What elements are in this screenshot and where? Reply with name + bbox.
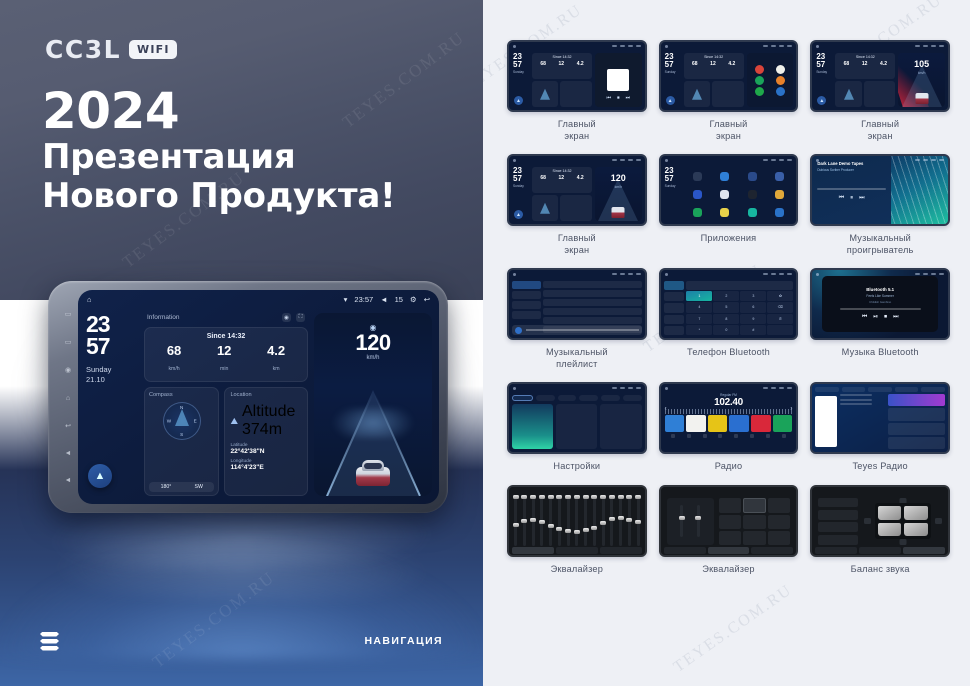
gallery-item[interactable]: 2357Sunday Since 14:3268124.2 ▲ <box>659 40 799 142</box>
prev-icon: ⏮ <box>862 314 867 321</box>
latitude-value: 22°42'38"N <box>230 448 302 455</box>
compass-n: N <box>180 405 183 410</box>
dial-call-icon[interactable]: ✆ <box>767 314 793 324</box>
dial-key[interactable]: ◉ <box>65 366 71 374</box>
navigation-label: НАВИГАЦИЯ <box>364 635 443 647</box>
thumbnail-bluetooth-phone[interactable]: 1 2 3 ✿ 4 5 6 ⌫ 7 8 <box>659 268 799 340</box>
dial-action-icon[interactable]: ✿ <box>767 291 793 301</box>
gear-icon[interactable]: ⚙ <box>410 295 417 304</box>
next-icon: ⏭ <box>859 195 864 202</box>
power-key[interactable]: ▭ <box>65 310 72 318</box>
status-right-group: ▾ 23:57 ◄ 15 ⚙ ↩ <box>344 295 430 304</box>
gallery-caption: Приложения <box>701 233 757 245</box>
compass-card[interactable]: Compass N S W E 180° <box>144 387 219 496</box>
clock-date: 21.10 <box>86 375 138 384</box>
status-time: 23:57 <box>354 295 373 304</box>
wifi-icon: ▾ <box>344 295 348 304</box>
gallery-item[interactable]: Баланс звука <box>810 485 950 576</box>
gallery-caption-line2: проигрыватель <box>847 245 914 257</box>
location-title: Location <box>230 392 302 398</box>
stat-value: 4.2 <box>267 344 285 357</box>
stop-icon: ⏹ <box>884 314 887 321</box>
thumbnail-settings[interactable] <box>507 382 647 454</box>
compass-bearing: 180° <box>161 484 172 490</box>
dial-key[interactable]: 6 <box>740 302 766 312</box>
home-icon[interactable]: ⌂ <box>87 295 92 304</box>
gallery-caption: Главный <box>558 233 596 245</box>
watermark: TEYES.COM.RU <box>671 581 796 676</box>
dial-key[interactable]: 4 <box>686 302 712 312</box>
gallery-caption: Эквалайзер <box>551 564 603 576</box>
information-title: Information <box>147 314 180 321</box>
compass-title: Compass <box>149 392 214 398</box>
driving-view[interactable]: ◉ 120 km/h <box>314 313 432 496</box>
stat-speed: 68 km/h <box>167 344 181 375</box>
thumbnail-playlist[interactable] <box>507 268 647 340</box>
gallery-caption: Главный <box>861 119 899 131</box>
home-key[interactable]: ⌂ <box>66 395 70 402</box>
head-unit-bezel: ▭ ▭ ◉ ⌂ ↩ ◄ ◄ ⌂ ▾ 23:57 ◄ 15 <box>48 281 448 513</box>
hero-title-line1: Презентация <box>42 138 395 177</box>
speed-value: 120 <box>314 332 432 354</box>
bt-artist: Childish Gambino <box>869 300 891 304</box>
gallery-caption: Музыкальный <box>546 347 608 359</box>
speed-readout: ◉ 120 km/h <box>314 323 432 361</box>
gallery-caption: Главный <box>558 119 596 131</box>
gallery-caption: Настройки <box>553 461 600 473</box>
longitude-value: 114°4'23"E <box>230 464 302 471</box>
screen-body: 23 57 Sunday 21.10 ▲ Information <box>78 308 439 504</box>
thumbnail-music-player[interactable]: Dark Lane Demo Tapes Dubious Scriber Pro… <box>810 154 950 226</box>
mode-key[interactable]: ▭ <box>65 338 72 346</box>
thumbnail-equalizer-pads[interactable] <box>659 485 799 557</box>
stat-value: 12 <box>217 344 231 357</box>
information-column: Information ◉ ⛶ Since 14:32 <box>144 313 308 496</box>
thumb-speed-value: 105 <box>898 59 945 69</box>
gallery-item[interactable]: 2357Sunday Since 14:3268124.2 105 km/h ▲ <box>810 40 950 142</box>
back-key[interactable]: ↩ <box>65 422 71 430</box>
speed-unit: km/h <box>314 355 432 361</box>
gallery-caption-line2: экран <box>861 131 899 143</box>
thumbnail-bluetooth-music[interactable]: Bluetooth 5.1 Feels Like Summer Childish… <box>810 268 950 340</box>
trip-info-card[interactable]: Since 14:32 68 km/h 12 min <box>144 327 308 382</box>
next-icon: ⏭ <box>893 314 898 321</box>
page-title: 2024 Презентация Нового Продукта! <box>42 84 395 217</box>
prev-icon: ⏮ <box>839 195 844 202</box>
compass-e: E <box>194 419 197 424</box>
stat-value: 68 <box>167 344 181 357</box>
layers-icon[interactable] <box>40 632 59 651</box>
gallery-caption: Главный <box>709 119 747 131</box>
gallery-grid: 2357Sunday Since 14:3268124.2 ⏮⏹⏭ ▲ Глав… <box>507 40 950 575</box>
dial-key[interactable]: 0 <box>713 325 739 335</box>
compass-w: W <box>167 419 171 424</box>
gallery-caption: Радио <box>715 461 743 473</box>
gallery-item[interactable]: Bluetooth 5.1 Feels Like Summer Childish… <box>810 268 950 370</box>
gallery-item[interactable]: Teyes Радио <box>810 382 950 473</box>
dial-blank <box>767 325 793 335</box>
thumbnail-home-media[interactable]: 2357Sunday Since 14:3268124.2 ⏮⏹⏭ ▲ <box>507 40 647 112</box>
gallery-item[interactable]: 2357Sunday Since 14:3268124.2 ⏮⏹⏭ ▲ Глав… <box>507 40 647 142</box>
location-card[interactable]: Location ⛰ Altitude 374m <box>224 387 308 496</box>
gallery-caption: Телефон Bluetooth <box>687 347 770 359</box>
clock-hours: 23 <box>86 313 138 335</box>
dial-key[interactable]: 9 <box>740 314 766 324</box>
dialpad: 1 2 3 ✿ 4 5 6 ⌫ 7 8 <box>686 291 793 335</box>
thumbnail-apps[interactable]: 2357Sunday <box>659 154 799 226</box>
thumbnail-radio[interactable]: Regular FM 102.40 ‹ › <box>659 382 799 454</box>
logo-text: CC3L <box>45 35 121 64</box>
balance-down-arrow[interactable] <box>899 539 906 545</box>
clock-minutes: 57 <box>86 335 138 357</box>
compass-s: S <box>180 432 183 437</box>
gallery-item[interactable]: Эквалайзер <box>507 485 647 576</box>
player-artist: Dubious Scriber Producer <box>817 168 886 172</box>
bt-title: Bluetooth 5.1 <box>866 287 894 292</box>
thumbnail-sound-balance[interactable] <box>810 485 950 557</box>
hero-title-line2: Нового Продукта! <box>42 177 395 216</box>
gallery-caption: Музыкальный <box>847 233 914 245</box>
bt-track: Feels Like Summer <box>866 294 893 298</box>
compass-direction: SW <box>194 484 202 490</box>
mountain-icon: ⛰ <box>230 416 238 427</box>
presentation-page: TEYES.COM.RU TEYES.COM.RU TEYES.COM.RU C… <box>0 0 970 686</box>
balance-left-arrow[interactable] <box>864 518 871 524</box>
head-unit-screen[interactable]: ⌂ ▾ 23:57 ◄ 15 ⚙ ↩ 23 57 <box>78 290 439 504</box>
wifi-badge: WIFI <box>129 40 177 59</box>
radio-frequency: 102.40 <box>663 397 795 408</box>
gallery-caption-line2: экран <box>558 245 596 257</box>
hardware-key-column[interactable]: ▭ ▭ ◉ ⌂ ↩ ◄ ◄ <box>57 290 79 504</box>
hero-panel: TEYES.COM.RU TEYES.COM.RU TEYES.COM.RU C… <box>0 0 483 686</box>
gallery-item[interactable]: 2357Sunday Since 14:3268124.2 120 km/h ▲ <box>507 154 647 256</box>
gallery-item[interactable]: 2357Sunday <box>659 154 799 256</box>
stat-unit: km <box>273 366 280 372</box>
hero-wave-2 <box>0 535 483 604</box>
refresh-icon[interactable]: ◉ <box>282 313 291 322</box>
dial-key[interactable]: 7 <box>686 314 712 324</box>
clock-widget: 23 57 Sunday 21.10 ▲ <box>86 313 138 496</box>
pause-icon: ⏸ <box>850 195 853 202</box>
volume-icon: ◄ <box>380 295 387 304</box>
gallery-caption-line2: экран <box>558 131 596 143</box>
seat-map[interactable] <box>875 503 931 539</box>
head-unit: ▭ ▭ ◉ ⌂ ↩ ◄ ◄ ⌂ ▾ 23:57 ◄ 15 <box>48 281 448 513</box>
hero-year: 2024 <box>42 84 395 138</box>
stat-distance: 4.2 km <box>267 344 285 375</box>
car-icon <box>356 456 390 486</box>
altitude-value: 374m <box>242 421 282 438</box>
thumbnail-home-apps[interactable]: 2357Sunday Since 14:3268124.2 ▲ <box>659 40 799 112</box>
navigation-arrow-icon[interactable]: ▲ <box>88 464 112 488</box>
compass-dial: N S W E <box>163 402 201 440</box>
thumbnail-teyes-radio[interactable] <box>810 382 950 454</box>
gallery-caption: Эквалайзер <box>702 564 754 576</box>
play-icon: ⏯ <box>873 314 878 321</box>
altitude-label: Altitude <box>242 403 295 420</box>
gallery-caption: Баланс звука <box>851 564 910 576</box>
product-logo: CC3L WIFI <box>45 35 177 64</box>
dial-key[interactable]: 3 <box>740 291 766 301</box>
gallery-item[interactable]: Эквалайзер <box>659 485 799 576</box>
dial-key[interactable]: # <box>740 325 766 335</box>
gallery-item[interactable]: Настройки <box>507 382 647 473</box>
volume-up-key[interactable]: ◄ <box>65 450 72 457</box>
trip-since: Since 14:32 <box>149 333 303 340</box>
thumbnail-home-drive-red[interactable]: 2357Sunday Since 14:3268124.2 105 km/h ▲ <box>810 40 950 112</box>
volume-value: 15 <box>395 295 403 304</box>
stat-unit: km/h <box>168 366 179 372</box>
gallery-item[interactable]: 1 2 3 ✿ 4 5 6 ⌫ 7 8 <box>659 268 799 370</box>
thumbnail-home-drive[interactable]: 2357Sunday Since 14:3268124.2 120 km/h ▲ <box>507 154 647 226</box>
back-arrow-icon[interactable]: ↩ <box>424 295 430 304</box>
dial-key[interactable]: 1 <box>686 291 712 301</box>
gallery-caption-line2: плейлист <box>546 359 608 371</box>
expand-icon[interactable]: ⛶ <box>296 313 305 322</box>
screenshot-gallery: TEYES.COM.RU TEYES.COM.RU TEYES.COM.RU T… <box>483 0 970 686</box>
dial-key[interactable]: 5 <box>713 302 739 312</box>
status-bar: ⌂ ▾ 23:57 ◄ 15 ⚙ ↩ <box>78 290 439 308</box>
gallery-item[interactable]: Dark Lane Demo Tapes Dubious Scriber Pro… <box>810 154 950 256</box>
gallery-item[interactable]: Regular FM 102.40 ‹ › <box>659 382 799 473</box>
volume-down-key[interactable]: ◄ <box>65 477 72 484</box>
dial-backspace-icon[interactable]: ⌫ <box>767 302 793 312</box>
dial-key[interactable]: 2 <box>713 291 739 301</box>
clock-weekday: Sunday <box>86 365 138 374</box>
dial-key[interactable]: 8 <box>713 314 739 324</box>
dial-key[interactable]: * <box>686 325 712 335</box>
gallery-caption: Teyes Радио <box>853 461 908 473</box>
gallery-caption-line2: экран <box>709 131 747 143</box>
hero-footer: НАВИГАЦИЯ <box>0 626 483 656</box>
stat-unit: min <box>220 366 228 372</box>
trip-stats: 68 km/h 12 min 4.2 km <box>149 344 303 375</box>
gallery-item[interactable]: Музыкальный плейлист <box>507 268 647 370</box>
stat-duration: 12 min <box>217 344 231 375</box>
gallery-caption: Музыка Bluetooth <box>842 347 919 359</box>
thumbnail-equalizer[interactable] <box>507 485 647 557</box>
compass-needle-icon <box>175 409 189 426</box>
balance-right-arrow[interactable] <box>935 518 942 524</box>
thumb-speed-value: 120 <box>595 173 642 183</box>
